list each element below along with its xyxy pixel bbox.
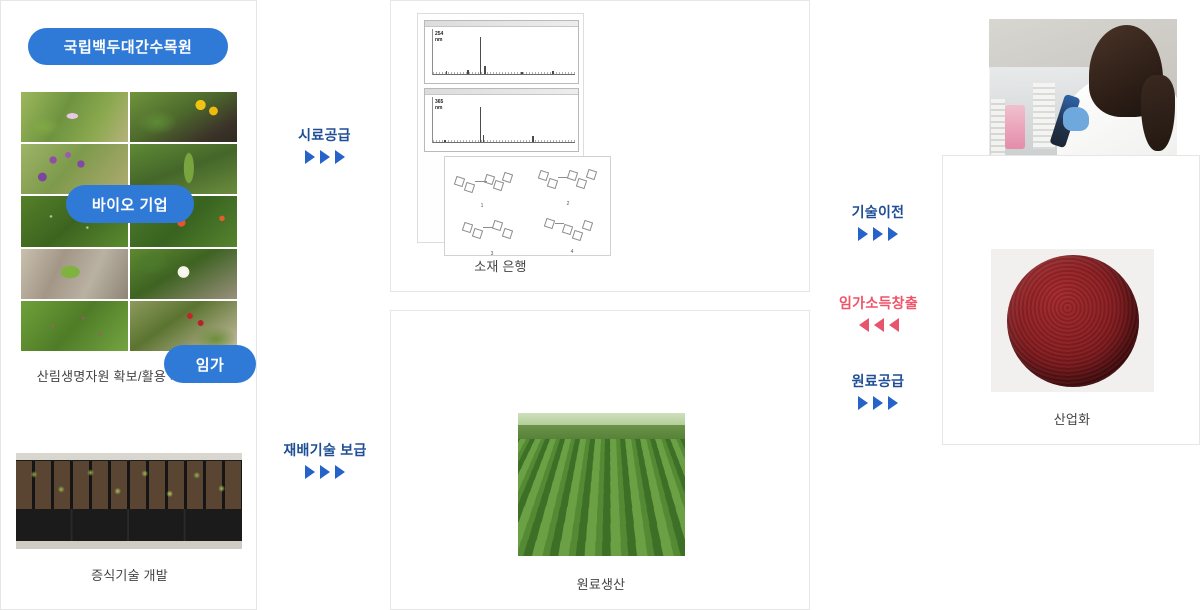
chromatogram-365-trace <box>433 99 575 143</box>
arrow-right-icon <box>873 396 883 410</box>
ring <box>544 218 555 229</box>
blue-glove <box>1063 107 1089 131</box>
pipette-tip-rack <box>991 99 1005 159</box>
peak-main <box>480 37 482 75</box>
bond <box>555 223 564 224</box>
chromatogram-titlebar <box>425 21 578 27</box>
arrow-right-icon <box>873 227 883 241</box>
caption-material-bank: 소재 은행 <box>413 256 588 275</box>
workflow-diagram: 국립백두대간수목원 산림생명자원 확보/활용 기술 개발 증식기술 개발 시료공… <box>0 0 1200 610</box>
plant-photo-10 <box>130 301 237 351</box>
material-panel: 254 nm 365 <box>390 0 810 292</box>
arrow-right-icon <box>858 227 868 241</box>
baseline <box>433 142 575 143</box>
flow-cultivation-tech: 재배기술 보급 <box>260 440 390 479</box>
ring <box>582 220 593 231</box>
flow-cultivation-tech-arrows <box>260 465 390 479</box>
ring <box>462 222 473 233</box>
flow-tech-transfer-arrows <box>818 227 938 241</box>
structure-number: 1 <box>481 203 484 209</box>
molecular-structure-3: 3 <box>461 215 523 249</box>
flow-farm-income-arrows <box>806 318 951 332</box>
tray-base <box>16 541 242 549</box>
arrow-left-icon <box>889 318 899 332</box>
ring <box>502 228 513 239</box>
pink-reagent-bottle <box>1005 105 1025 149</box>
chromatogram-254-trace <box>433 31 575 75</box>
ring <box>493 180 504 191</box>
ring <box>586 169 597 180</box>
caption-industrialization: 산업화 <box>943 409 1200 428</box>
ring <box>572 230 583 241</box>
arrow-left-icon <box>859 318 869 332</box>
bio-company-panel: 산업화 <box>942 155 1200 445</box>
bio-company-badge[interactable]: 바이오 기업 <box>66 185 194 223</box>
structure-number: 2 <box>567 201 570 207</box>
crop-field-photo <box>518 413 685 556</box>
plant-photo-9 <box>21 301 128 351</box>
tray-rim <box>16 453 242 460</box>
peak-main <box>480 107 482 143</box>
ring <box>562 224 573 235</box>
plant-photo-7 <box>21 249 128 299</box>
red-powder-photo <box>991 249 1154 392</box>
arrow-right-icon <box>320 150 330 164</box>
plant-photo-2 <box>130 92 237 142</box>
flow-cultivation-tech-label: 재배기술 보급 <box>260 440 390 460</box>
flow-tech-transfer-label: 기술이전 <box>818 202 938 222</box>
plant-photo-8 <box>130 249 237 299</box>
flow-sample-supply: 시료공급 <box>262 125 387 164</box>
ring <box>538 170 549 181</box>
molecular-structure-1: 1 <box>451 167 513 201</box>
crop-rows <box>518 439 685 556</box>
ring <box>567 170 578 181</box>
baseline <box>433 74 575 75</box>
caption-propagation-tech: 증식기술 개발 <box>1 565 258 584</box>
powder-texture <box>1007 255 1139 387</box>
ring <box>464 182 475 193</box>
molecular-structures-figure: 1 2 3 <box>444 156 611 256</box>
farm-badge[interactable]: 임가 <box>164 345 256 383</box>
arrow-right-icon <box>888 396 898 410</box>
flow-sample-supply-label: 시료공급 <box>262 125 387 145</box>
arrow-right-icon <box>335 465 345 479</box>
chromatogram-365nm: 365 nm <box>424 88 579 152</box>
ring <box>454 176 465 187</box>
ring <box>472 228 483 239</box>
plant-photo-1 <box>21 92 128 142</box>
ring <box>547 178 558 189</box>
molecular-structure-2: 2 <box>537 165 599 199</box>
ring <box>492 220 503 231</box>
flow-raw-material-supply-label: 원료공급 <box>818 371 938 391</box>
structure-number: 4 <box>571 249 574 255</box>
tray-sprouts <box>16 463 242 507</box>
chromatogram-figure: 254 nm 365 <box>417 13 584 243</box>
arrow-right-icon <box>858 396 868 410</box>
chromatogram-titlebar <box>425 89 578 95</box>
ring <box>576 178 587 189</box>
arrow-right-icon <box>305 150 315 164</box>
farm-panel: 원료생산 <box>390 310 810 610</box>
flow-farm-income-label: 임가소득창출 <box>806 293 951 313</box>
institute-panel: 국립백두대간수목원 산림생명자원 확보/활용 기술 개발 증식기술 개발 <box>0 0 257 610</box>
arrow-right-icon <box>320 465 330 479</box>
flow-tech-transfer: 기술이전 <box>818 202 938 241</box>
institute-badge[interactable]: 국립백두대간수목원 <box>28 28 228 65</box>
flow-farm-income: 임가소득창출 <box>806 293 951 332</box>
flow-raw-material-supply-arrows <box>818 396 938 410</box>
arrow-right-icon <box>888 227 898 241</box>
arrow-right-icon <box>335 150 345 164</box>
molecular-structure-4: 4 <box>541 213 603 247</box>
chromatogram-254nm: 254 nm <box>424 20 579 84</box>
caption-raw-material-production: 원료생산 <box>391 574 811 593</box>
arrow-left-icon <box>874 318 884 332</box>
flow-sample-supply-arrows <box>262 150 387 164</box>
flow-raw-material-supply: 원료공급 <box>818 371 938 410</box>
arrow-right-icon <box>305 465 315 479</box>
seedling-tray-photo <box>16 453 242 549</box>
